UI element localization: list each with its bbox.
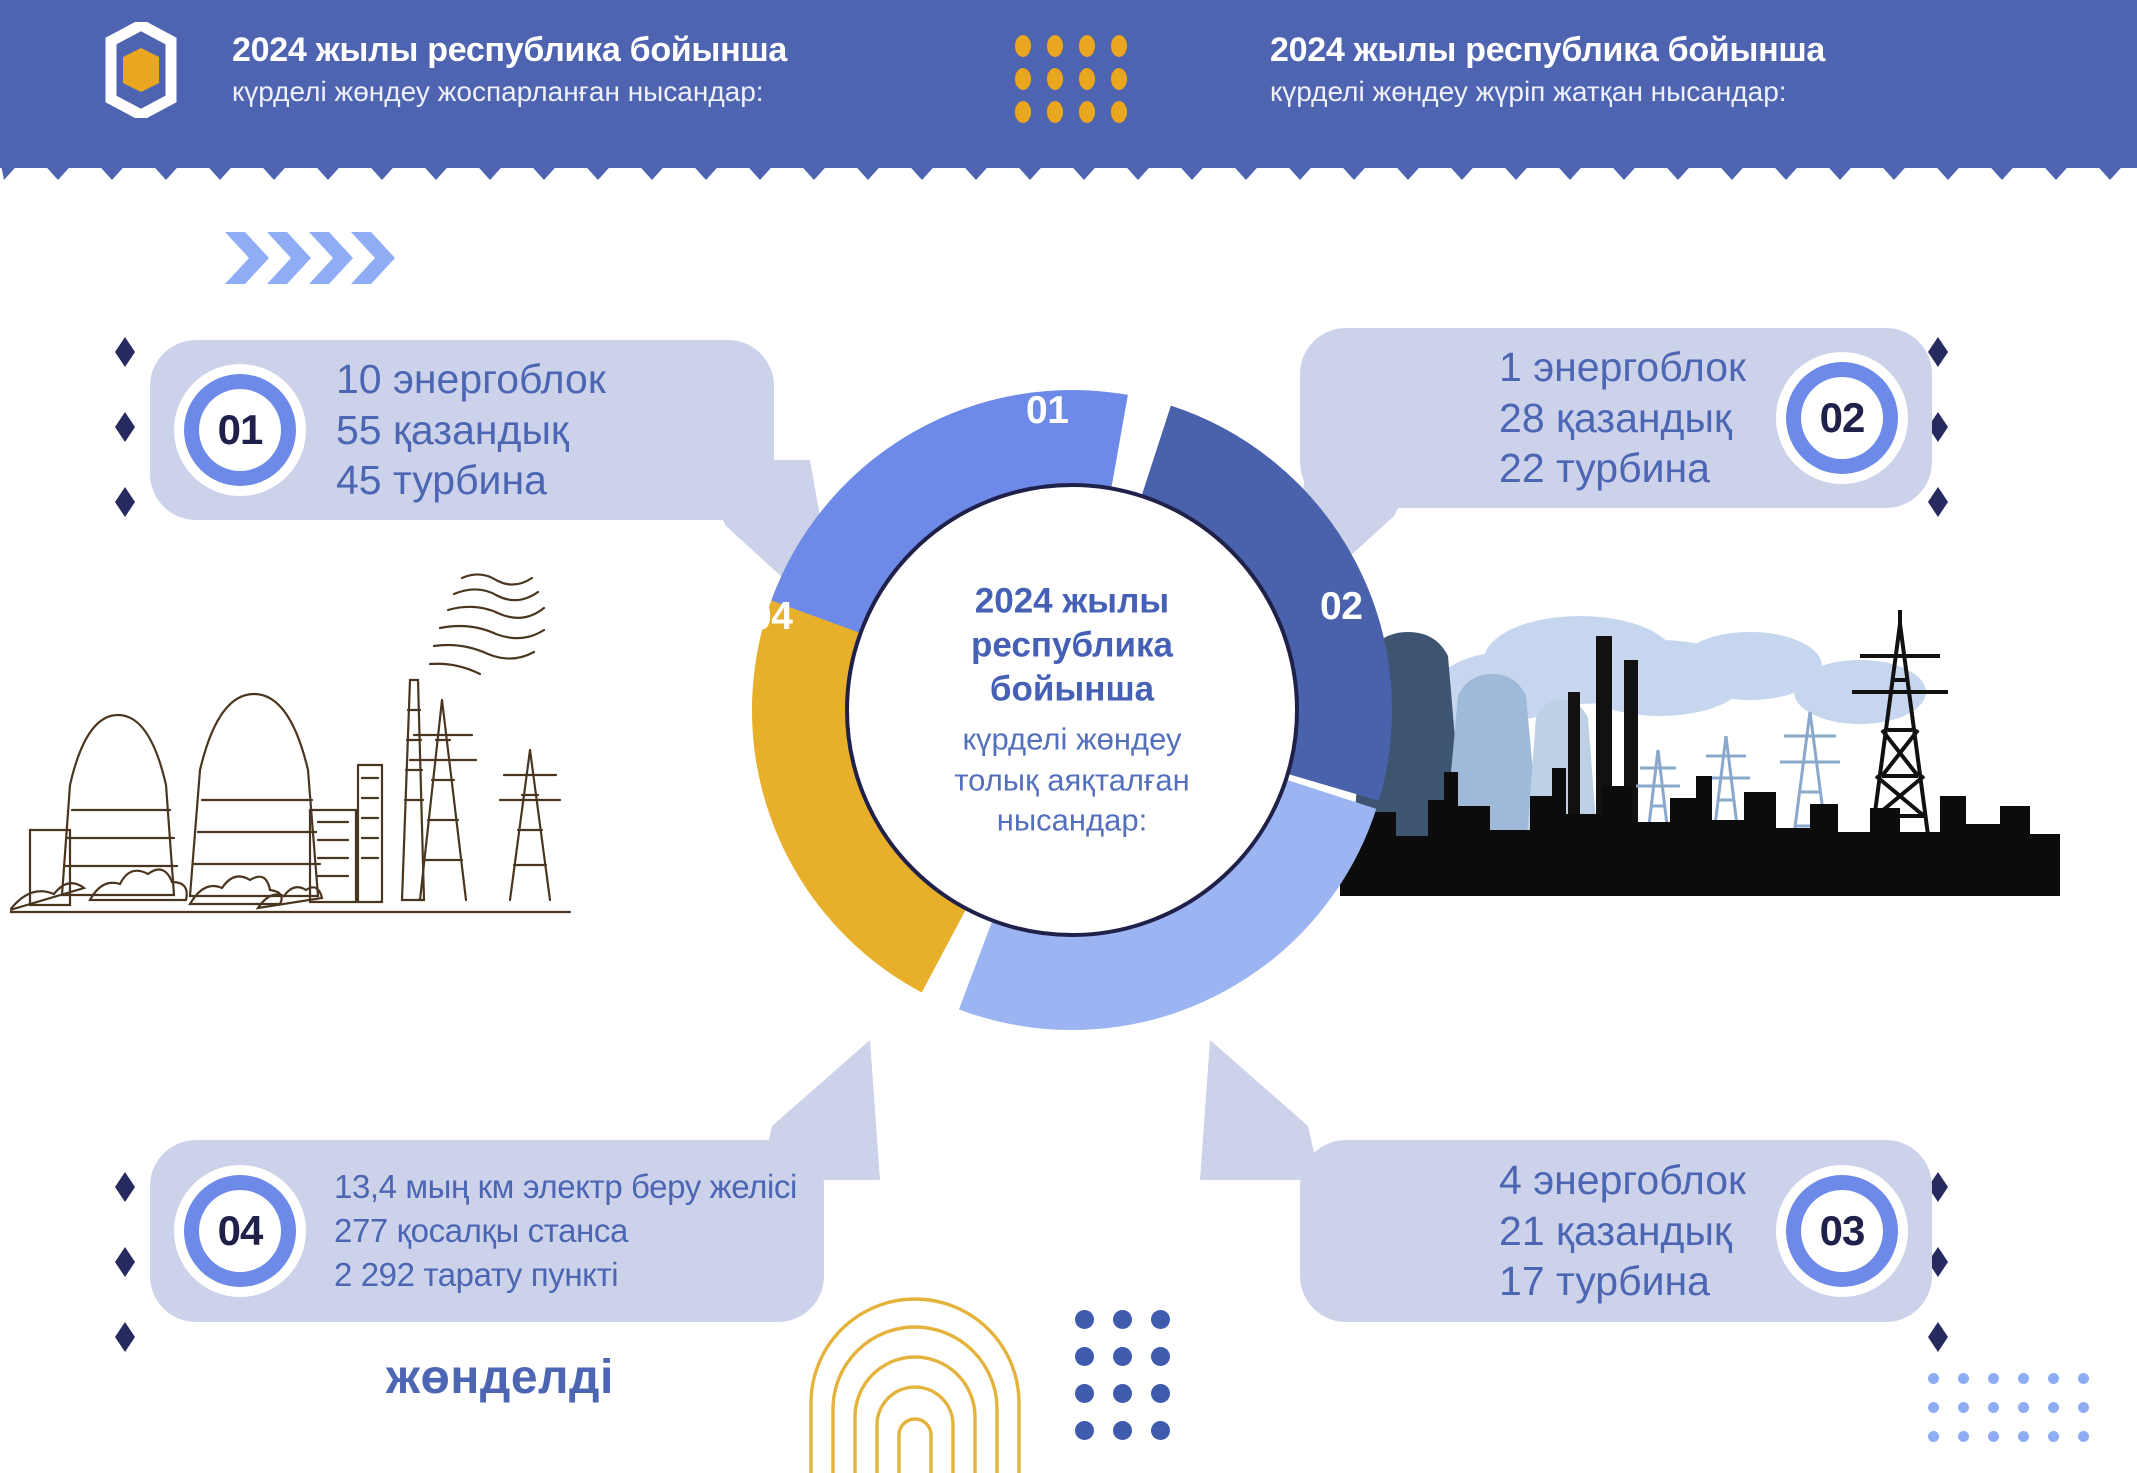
- header-dots-center: [1015, 35, 1145, 125]
- donut-center-title: 2024 жылы республика бойынша: [907, 579, 1237, 711]
- donut-center-title-line-2: республика: [907, 624, 1237, 668]
- card-02-badge-number: 02: [1801, 377, 1883, 459]
- card-03-line-2: 21 қазандық: [1499, 1206, 1746, 1257]
- card-03-line-1: 4 энергоблок: [1499, 1155, 1746, 1206]
- octagon-logo: [95, 22, 187, 118]
- card-03-line-3: 17 турбина: [1499, 1256, 1746, 1307]
- card-02-line-2: 28 қазандық: [1499, 393, 1746, 444]
- industrial-skyline-illustration: [1340, 600, 2060, 980]
- badge-ring: 02: [1786, 362, 1898, 474]
- donut-segment-label-02: 02: [1320, 585, 1362, 629]
- donut-center-sub-line-3: нысандар:: [907, 800, 1237, 840]
- card-01-line-1: 10 энергоблок: [336, 354, 606, 405]
- badge-ring: 01: [184, 374, 296, 486]
- card-04-line-3: 2 292 тарату пункті: [334, 1253, 797, 1297]
- diamond-icon: [115, 1322, 135, 1352]
- diamond-icon: [115, 487, 135, 517]
- header-left-subtitle: күрделі жөндеу жоспарланған нысандар:: [232, 74, 787, 110]
- card-04-badge-number: 04: [199, 1190, 281, 1272]
- card-02-line-3: 22 турбина: [1499, 443, 1746, 494]
- diamond-icon: [115, 1172, 135, 1202]
- card-01-badge: 01: [174, 364, 306, 496]
- donut-center-title-line-3: бойынша: [907, 668, 1237, 712]
- diamond-icon: [115, 337, 135, 367]
- card-03-badge-number: 03: [1801, 1190, 1883, 1272]
- concentric-arches-decoration: [805, 1295, 1065, 1473]
- header-right-subtitle: күрделі жөндеу жүріп жатқан нысандар:: [1270, 74, 1825, 110]
- donut-segment-label-01: 01: [1026, 389, 1068, 433]
- donut-center-subtitle: күрделі жөндеу толық аяқталған нысандар:: [907, 720, 1237, 841]
- donut-center-title-line-1: 2024 жылы: [907, 579, 1237, 623]
- diamond-icon: [1928, 337, 1948, 367]
- power-plant-sketch-illustration: [10, 560, 690, 960]
- header-right-title: 2024 жылы республика бойынша: [1270, 30, 1825, 70]
- card-02-line-1: 1 энергоблок: [1499, 342, 1746, 393]
- badge-ring: 04: [184, 1175, 296, 1287]
- dot-grid-light-blue: [1928, 1373, 2088, 1443]
- card-04-lines: 13,4 мың км электр беру желісі 277 қосал…: [334, 1165, 797, 1297]
- card-03-lines: 4 энергоблок 21 қазандық 17 турбина: [1499, 1155, 1746, 1307]
- donut-segment-label-03-bottom: 03: [1040, 1060, 1082, 1104]
- card-02-badge: 02: [1776, 352, 1908, 484]
- header-right-text: 2024 жылы республика бойынша күрделі жөн…: [1270, 30, 1825, 111]
- card-04-line-1: 13,4 мың км электр беру желісі: [334, 1165, 797, 1209]
- donut-center-sub-line-2: толық аяқталған: [907, 760, 1237, 800]
- card-03-badge: 03: [1776, 1165, 1908, 1297]
- card-01-line-3: 45 турбина: [336, 455, 606, 506]
- diamond-icon: [115, 412, 135, 442]
- card-01-badge-number: 01: [199, 389, 281, 471]
- donut-center-sub-line-1: күрделі жөндеу: [907, 720, 1237, 760]
- card-01[interactable]: 01 10 энергоблок 55 қазандық 45 турбина: [150, 340, 774, 520]
- card-04[interactable]: 04 13,4 мың км электр беру желісі 277 қо…: [150, 1140, 824, 1322]
- dot-grid-blue: [1075, 1310, 1185, 1440]
- diamond-icon: [1928, 1322, 1948, 1352]
- donut-center-text: 2024 жылы республика бойынша күрделі жөн…: [907, 579, 1237, 840]
- chevron-arrows-icon: [225, 232, 425, 284]
- badge-ring: 03: [1786, 1175, 1898, 1287]
- donut-segment-label-04: 04: [750, 595, 792, 639]
- card-01-line-2: 55 қазандық: [336, 405, 606, 456]
- diamond-icon: [115, 1247, 135, 1277]
- card-04-line-2: 277 қосалқы станса: [334, 1209, 797, 1253]
- header-zigzag-edge: [0, 150, 2137, 184]
- donut-chart: 01 02 03 04 2024 жылы республика бойынша…: [732, 370, 1412, 1050]
- card-04-badge: 04: [174, 1165, 306, 1297]
- diamond-icon: [1928, 487, 1948, 517]
- card-02-lines: 1 энергоблок 28 қазандық 22 турбина: [1499, 342, 1746, 494]
- repaired-label: жөнделді: [386, 1350, 614, 1405]
- card-03[interactable]: 03 4 энергоблок 21 қазандық 17 турбина: [1300, 1140, 1932, 1322]
- infographic-canvas: 2024 жылы республика бойынша күрделі жөн…: [0, 0, 2137, 1473]
- card-01-lines: 10 энергоблок 55 қазандық 45 турбина: [336, 354, 606, 506]
- header-left-text: 2024 жылы республика бойынша күрделі жөн…: [232, 30, 787, 111]
- header-left-title: 2024 жылы республика бойынша: [232, 30, 787, 70]
